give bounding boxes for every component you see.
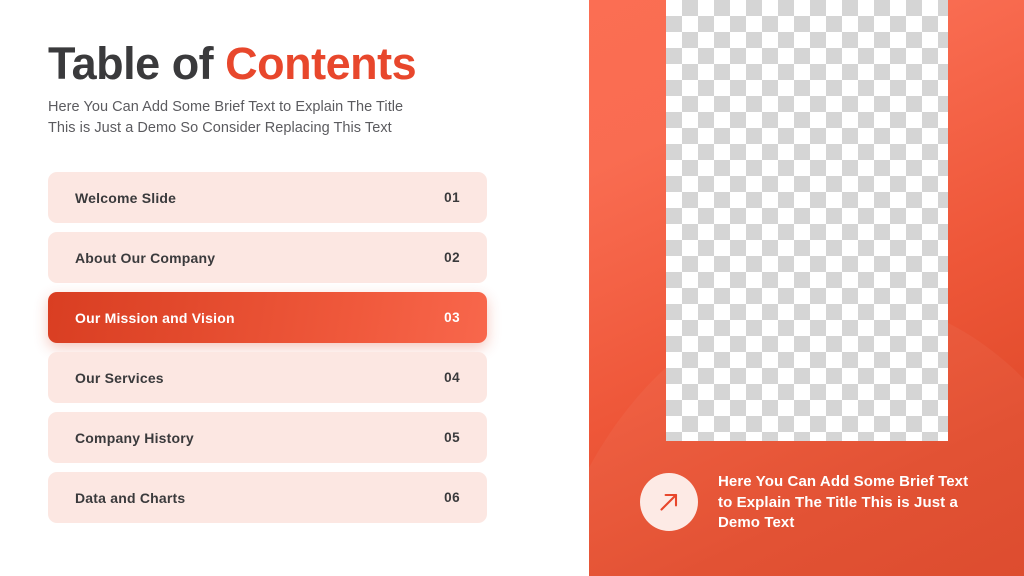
toc-item-our-mission-and-vision[interactable]: Our Mission and Vision 03 (48, 292, 487, 343)
image-placeholder[interactable] (666, 0, 948, 441)
toc-item-label: Data and Charts (75, 490, 185, 506)
toc-item-label: Our Mission and Vision (75, 310, 235, 326)
toc-item-number: 06 (444, 490, 460, 505)
toc-item-label: Our Services (75, 370, 164, 386)
right-accent-panel: Here You Can Add Some Brief Text to Expl… (589, 0, 1024, 576)
slide-root: Table of Contents Here You Can Add Some … (0, 0, 1024, 576)
page-subtitle-line-1: Here You Can Add Some Brief Text to Expl… (48, 97, 468, 118)
left-content-column: Table of Contents Here You Can Add Some … (0, 0, 589, 576)
toc-item-number: 01 (444, 190, 460, 205)
page-title-accent: Contents (225, 38, 416, 89)
toc-item-label: Welcome Slide (75, 190, 176, 206)
page-title: Table of Contents (48, 40, 416, 87)
panel-footnote-text: Here You Can Add Some Brief Text to Expl… (718, 472, 971, 534)
panel-footnote-line-1: Here You Can Add Some Brief (718, 473, 934, 490)
page-subtitle-line-2: This is Just a Demo So Consider Replacin… (48, 118, 468, 139)
toc-item-label: Company History (75, 430, 194, 446)
arrow-up-right-icon[interactable] (640, 473, 698, 531)
panel-footnote: Here You Can Add Some Brief Text to Expl… (640, 473, 1010, 534)
toc-item-number: 03 (444, 310, 460, 325)
toc-item-about-our-company[interactable]: About Our Company 02 (48, 232, 487, 283)
page-subtitle: Here You Can Add Some Brief Text to Expl… (48, 97, 468, 138)
toc-item-our-services[interactable]: Our Services 04 (48, 352, 487, 403)
toc-item-number: 05 (444, 430, 460, 445)
toc-item-welcome-slide[interactable]: Welcome Slide 01 (48, 172, 487, 223)
page-title-primary: Table of (48, 38, 225, 89)
table-of-contents-list: Welcome Slide 01 About Our Company 02 Ou… (48, 172, 487, 532)
toc-item-number: 02 (444, 250, 460, 265)
toc-item-company-history[interactable]: Company History 05 (48, 412, 487, 463)
toc-item-data-and-charts[interactable]: Data and Charts 06 (48, 472, 487, 523)
toc-item-number: 04 (444, 370, 460, 385)
toc-item-label: About Our Company (75, 250, 215, 266)
